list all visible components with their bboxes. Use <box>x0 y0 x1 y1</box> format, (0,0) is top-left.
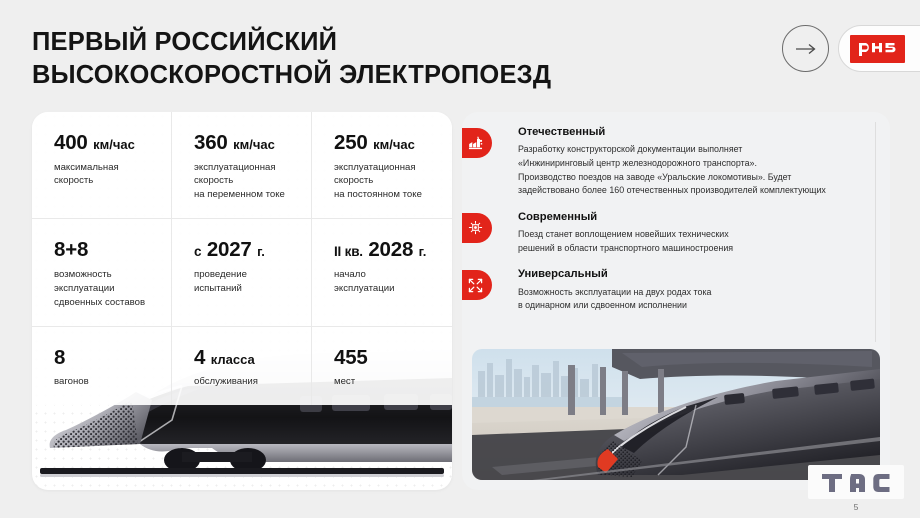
features-panel: Отечественный Разработку конструкторской… <box>462 112 890 490</box>
stat-label: эксплуатационная скорость на постоянном … <box>334 161 440 203</box>
arrow-right-icon <box>795 43 817 55</box>
expand-arrows-icon <box>468 278 483 293</box>
stat-label: возможность эксплуатации сдвоенных соста… <box>54 268 159 310</box>
stat-label: максимальная скорость <box>54 161 159 189</box>
stat-label: мест <box>334 375 440 389</box>
stat-number: 360 <box>194 131 228 154</box>
stat-number: 455 <box>334 346 368 369</box>
page-title: ПЕРВЫЙ РОССИЙСКИЙ ВЫСОКОСКОРОСТНОЙ ЭЛЕКТ… <box>32 26 551 91</box>
rzd-brand-pill[interactable] <box>838 25 920 72</box>
feature-text: Современный Поезд станет воплощением нов… <box>508 211 747 256</box>
feature-item: Универсальный Возможность эксплуатации н… <box>462 268 890 313</box>
stat-unit: км/час <box>93 137 135 152</box>
stat-number: 2027 <box>207 238 252 261</box>
stat-prefix: с <box>194 244 201 259</box>
feature-text: Универсальный Возможность эксплуатации н… <box>508 268 725 313</box>
stat-value: 8+8 <box>54 239 159 262</box>
stat-value: 8 <box>54 347 159 370</box>
header-brand-area <box>782 25 906 72</box>
feature-badge <box>462 128 492 158</box>
stat-value: 360 км/час <box>194 132 299 155</box>
stat-unit: класса <box>211 352 255 367</box>
next-slide-button[interactable] <box>782 25 829 72</box>
stat-unit: км/час <box>373 137 415 152</box>
train-render-photo <box>472 349 880 480</box>
feature-badge <box>462 213 492 243</box>
stat-number: 400 <box>54 131 88 154</box>
feature-title: Современный <box>518 211 733 224</box>
stat-value: 455 <box>334 347 440 370</box>
stat-cell-max-speed: 400 км/час максимальная скорость <box>32 112 172 219</box>
stat-cell-service-start: II кв. 2028 г. начало эксплуатации <box>312 219 452 326</box>
page-number: 5 <box>808 502 904 512</box>
stat-prefix: II кв. <box>334 244 363 259</box>
stat-cell-coupled-trains: 8+8 возможность эксплуатации сдвоенных с… <box>32 219 172 326</box>
stat-number: 2028 <box>368 238 413 261</box>
tass-footer: 5 <box>808 465 904 512</box>
specs-grid: 400 км/час максимальная скорость 360 км/… <box>32 112 452 405</box>
stat-value: 250 км/час <box>334 132 440 155</box>
stat-label: вагонов <box>54 375 159 389</box>
stat-label: обслуживания <box>194 375 299 389</box>
stat-unit: км/час <box>233 137 275 152</box>
feature-description: Возможность эксплуатации на двух родах т… <box>518 286 711 313</box>
microchip-icon <box>468 220 483 235</box>
stat-label: начало эксплуатации <box>334 268 440 296</box>
page-header: ПЕРВЫЙ РОССИЙСКИЙ ВЫСОКОСКОРОСТНОЙ ЭЛЕКТ… <box>0 0 920 104</box>
specs-card: 400 км/час максимальная скорость 360 км/… <box>32 112 452 490</box>
stat-cell-car-count: 8 вагонов <box>32 327 172 405</box>
stat-number: 8 <box>54 346 65 369</box>
stat-label: проведение испытаний <box>194 268 299 296</box>
feature-description: Поезд станет воплощением новейших технич… <box>518 228 733 255</box>
tass-logo <box>808 465 904 499</box>
features-list: Отечественный Разработку конструкторской… <box>462 112 890 326</box>
feature-badge <box>462 270 492 300</box>
stat-number: 4 <box>194 346 205 369</box>
stat-unit: г. <box>419 244 427 259</box>
stat-number: 8+8 <box>54 238 88 261</box>
rzd-logo <box>850 35 905 63</box>
stat-unit: г. <box>257 244 265 259</box>
feature-item: Современный Поезд станет воплощением нов… <box>462 211 890 256</box>
stat-value: с 2027 г. <box>194 239 299 262</box>
feature-description: Разработку конструкторской документации … <box>518 143 826 197</box>
stat-cell-dc-speed: 250 км/час эксплуатационная скорость на … <box>312 112 452 219</box>
stat-value: 400 км/час <box>54 132 159 155</box>
feature-title: Отечественный <box>518 126 826 139</box>
stat-number: 250 <box>334 131 368 154</box>
stat-label: эксплуатационная скорость на переменном … <box>194 161 299 203</box>
stat-cell-seats: 455 мест <box>312 327 452 405</box>
stat-cell-ac-speed: 360 км/час эксплуатационная скорость на … <box>172 112 312 219</box>
feature-title: Универсальный <box>518 268 711 281</box>
feature-item: Отечественный Разработку конструкторской… <box>462 126 890 198</box>
stat-cell-testing-year: с 2027 г. проведение испытаний <box>172 219 312 326</box>
stat-cell-service-classes: 4 класса обслуживания <box>172 327 312 405</box>
stat-value: 4 класса <box>194 347 299 370</box>
stat-value: II кв. 2028 г. <box>334 239 440 262</box>
factory-icon <box>468 136 483 150</box>
feature-text: Отечественный Разработку конструкторской… <box>508 126 840 198</box>
